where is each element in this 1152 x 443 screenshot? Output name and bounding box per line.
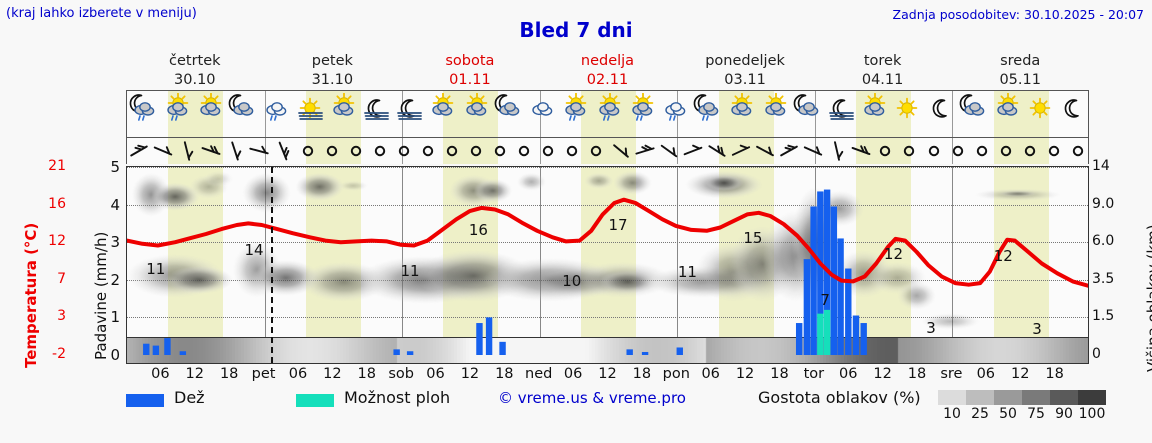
sun-cloud-rain-icon <box>594 93 624 137</box>
sun-cloud-icon <box>427 93 457 137</box>
cloud-height-axis-ticks: 149.06.03.51.50 <box>1092 160 1128 370</box>
wind-barb-icon <box>270 138 296 164</box>
precipitation-tick: 0 <box>96 346 120 364</box>
temperature-tick: 21 <box>30 158 66 174</box>
wind-barb-icon <box>704 138 730 164</box>
wind-barb-strip <box>126 138 1089 164</box>
calm-wind-icon <box>415 138 441 164</box>
cloud-height-tick: 14 <box>1092 158 1110 174</box>
temperature-value-label: 17 <box>609 216 628 234</box>
cloud-density-swatch <box>938 390 966 405</box>
forecast-plot: 11141116101711157123123 <box>126 166 1089 364</box>
moon-icon <box>926 93 956 137</box>
sun-cloud-rain-icon <box>162 93 192 137</box>
wind-barb-icon <box>848 138 874 164</box>
day-name: ponedeljek <box>676 52 814 71</box>
showers-legend-swatch <box>296 394 334 407</box>
day-date: 05.11 <box>951 71 1089 90</box>
rain-legend-label: Dež <box>174 388 205 407</box>
temperature-value-label: 12 <box>884 245 903 263</box>
calm-wind-icon <box>511 138 537 164</box>
calm-wind-icon <box>1065 138 1089 164</box>
sun-cloud-icon <box>859 93 889 137</box>
calm-wind-icon <box>463 138 489 164</box>
calm-wind-icon <box>487 138 513 164</box>
current-time-marker <box>271 167 273 363</box>
wind-barb-icon <box>174 138 200 164</box>
day-name: sreda <box>951 52 1089 71</box>
sun-icon <box>1025 93 1055 137</box>
day-name: torek <box>814 52 952 71</box>
day-name: četrtek <box>126 52 264 71</box>
cloud-density-ramp-ticks: 1025507590100 <box>932 406 1117 424</box>
cloud-density-color-ramp <box>938 390 1106 405</box>
cloud-height-tick: 0 <box>1092 346 1101 362</box>
cloud-density-legend-label: Gostota oblakov (%) <box>758 388 921 407</box>
calm-wind-icon <box>583 138 609 164</box>
temperature-value-label: 3 <box>926 319 936 337</box>
temperature-axis-title: Temperatura (°C) <box>2 160 28 370</box>
temperature-value-label: 11 <box>678 263 697 281</box>
weather-icon-strip <box>126 90 1089 138</box>
wind-barb-icon <box>608 138 634 164</box>
calm-wind-icon <box>1017 138 1043 164</box>
cloud-density-tick: 75 <box>1022 406 1050 422</box>
moon-cloud-rain-icon <box>693 93 723 137</box>
day-header-2: sobota01.11 <box>401 52 539 90</box>
sun-icon <box>892 93 922 137</box>
wind-barb-icon <box>246 138 272 164</box>
calm-wind-icon <box>439 138 465 164</box>
calm-wind-icon <box>872 138 898 164</box>
moon-cloud-rain-icon <box>129 93 159 137</box>
calm-wind-icon <box>391 138 417 164</box>
cloud-height-axis-title-text: Višina oblakov (km) <box>1144 224 1152 372</box>
cloud-density-tick: 10 <box>938 406 966 422</box>
copyright-link[interactable]: © vreme.us & vreme.pro <box>498 389 686 407</box>
precipitation-tick: 3 <box>96 233 120 251</box>
cloud-height-tick: 3.5 <box>1092 271 1114 287</box>
calm-wind-icon <box>993 138 1019 164</box>
precipitation-tick: 2 <box>96 271 120 289</box>
temperature-tick: 3 <box>30 308 66 324</box>
sun-cloud-icon <box>195 93 225 137</box>
moon-cloud-icon <box>793 93 823 137</box>
temperature-value-label: 10 <box>562 272 581 290</box>
calm-wind-icon <box>343 138 369 164</box>
sun-cloud-rain-icon <box>560 93 590 137</box>
moon-fog-icon <box>361 93 391 137</box>
cloud-density-swatch <box>1078 390 1106 405</box>
calm-wind-icon <box>921 138 947 164</box>
temperature-tick: 16 <box>30 196 66 212</box>
wind-barb-icon <box>680 138 706 164</box>
wind-barb-icon <box>728 138 754 164</box>
precipitation-axis-ticks: 543210 <box>96 160 122 370</box>
x-tick-label: 18 <box>1033 366 1077 382</box>
day-date: 02.11 <box>539 71 677 90</box>
day-name: sobota <box>401 52 539 71</box>
cloud-rain-icon <box>660 93 690 137</box>
calm-wind-icon <box>559 138 585 164</box>
sun-cloud-icon <box>328 93 358 137</box>
wind-barb-icon <box>198 138 224 164</box>
temperature-value-label: 14 <box>244 241 263 259</box>
sun-cloud-icon <box>760 93 790 137</box>
day-name: petek <box>264 52 402 71</box>
temperature-tick: -2 <box>30 346 66 362</box>
wind-barb-icon <box>632 138 658 164</box>
wind-barb-icon <box>222 138 248 164</box>
temperature-tick: 12 <box>30 233 66 249</box>
day-date: 04.11 <box>814 71 952 90</box>
rain-legend-swatch <box>126 394 164 407</box>
cloud-density-tick: 100 <box>1078 406 1106 422</box>
day-name: nedelja <box>539 52 677 71</box>
cloud-density-tick: 25 <box>966 406 994 422</box>
day-header-6: sreda05.11 <box>951 52 1089 90</box>
day-date: 03.11 <box>676 71 814 90</box>
precipitation-tick: 1 <box>96 308 120 326</box>
moon-cloud-icon <box>228 93 258 137</box>
wind-barb-icon <box>800 138 826 164</box>
cloud-height-axis-title: Višina oblakov (km) <box>1124 160 1150 375</box>
weather-forecast-page: (kraj lahko izberete v meniju) Bled 7 dn… <box>0 0 1152 443</box>
plot-inner: 11141116101711157123123 <box>127 167 1088 363</box>
cloud-height-tick: 9.0 <box>1092 196 1114 212</box>
moon-cloud-icon <box>959 93 989 137</box>
moon-icon <box>1058 93 1088 137</box>
moon-cloud-icon <box>494 93 524 137</box>
day-header-row: četrtek30.10petek31.10sobota01.11nedelja… <box>126 52 1089 90</box>
calm-wind-icon <box>1041 138 1067 164</box>
cloud-density-swatch <box>994 390 1022 405</box>
day-header-5: torek04.11 <box>814 52 952 90</box>
cloud-density-tick: 50 <box>994 406 1022 422</box>
calm-wind-icon <box>969 138 995 164</box>
sun-cloud-icon <box>726 93 756 137</box>
wind-barb-icon <box>752 138 778 164</box>
cloud-density-swatch <box>1022 390 1050 405</box>
calm-wind-icon <box>945 138 971 164</box>
cloud-height-tick: 6.0 <box>1092 233 1114 249</box>
cloud-density-tick: 90 <box>1050 406 1078 422</box>
calm-wind-icon <box>319 138 345 164</box>
chart-legend: Dež Možnost ploh © vreme.us & vreme.pro … <box>126 388 1146 428</box>
day-date: 30.10 <box>126 71 264 90</box>
cloud-height-tick: 1.5 <box>1092 308 1114 324</box>
cloud-density-swatch <box>1050 390 1078 405</box>
cloud-icon <box>527 93 557 137</box>
precipitation-tick: 5 <box>96 158 120 176</box>
precipitation-axis-title: Padavine (mm/h) <box>72 160 98 370</box>
wind-barb-icon <box>126 138 152 164</box>
temperature-value-label: 3 <box>1032 320 1042 338</box>
temperature-value-label: 12 <box>994 247 1013 265</box>
last-update-label: Zadnja posodobitev: 30.10.2025 - 20:07 <box>893 7 1144 22</box>
calm-wind-icon <box>535 138 561 164</box>
showers-legend-label: Možnost ploh <box>344 388 450 407</box>
temperature-value-label: 11 <box>146 260 165 278</box>
wind-barb-icon <box>656 138 682 164</box>
wind-barb-icon <box>150 138 176 164</box>
temperature-value-label: 16 <box>469 221 488 239</box>
sun-cloud-icon <box>992 93 1022 137</box>
calm-wind-icon <box>295 138 321 164</box>
precipitation-tick: 4 <box>96 196 120 214</box>
day-date: 31.10 <box>264 71 402 90</box>
temperature-value-label: 15 <box>743 229 762 247</box>
calm-wind-icon <box>896 138 922 164</box>
cloud-rain-icon <box>261 93 291 137</box>
temperature-tick: 7 <box>30 271 66 287</box>
cloud-density-swatch <box>966 390 994 405</box>
day-header-4: ponedeljek03.11 <box>676 52 814 90</box>
day-header-3: nedelja02.11 <box>539 52 677 90</box>
day-header-0: četrtek30.10 <box>126 52 264 90</box>
x-axis-labels: 061218pet061218sob061218ned061218pon0612… <box>126 366 1089 384</box>
moon-fog-icon <box>826 93 856 137</box>
calm-wind-icon <box>367 138 393 164</box>
sun-cloud-icon <box>461 93 491 137</box>
temperature-axis-ticks: 21161273-2 <box>30 160 66 370</box>
sun-cloud-rain-icon <box>627 93 657 137</box>
day-date: 01.11 <box>401 71 539 90</box>
day-header-1: petek31.10 <box>264 52 402 90</box>
wind-barb-icon <box>776 138 802 164</box>
wind-barb-icon <box>824 138 850 164</box>
sun-fog-icon <box>295 93 325 137</box>
moon-fog-icon <box>394 93 424 137</box>
temperature-value-label: 7 <box>820 291 830 309</box>
temperature-value-label: 11 <box>400 262 419 280</box>
